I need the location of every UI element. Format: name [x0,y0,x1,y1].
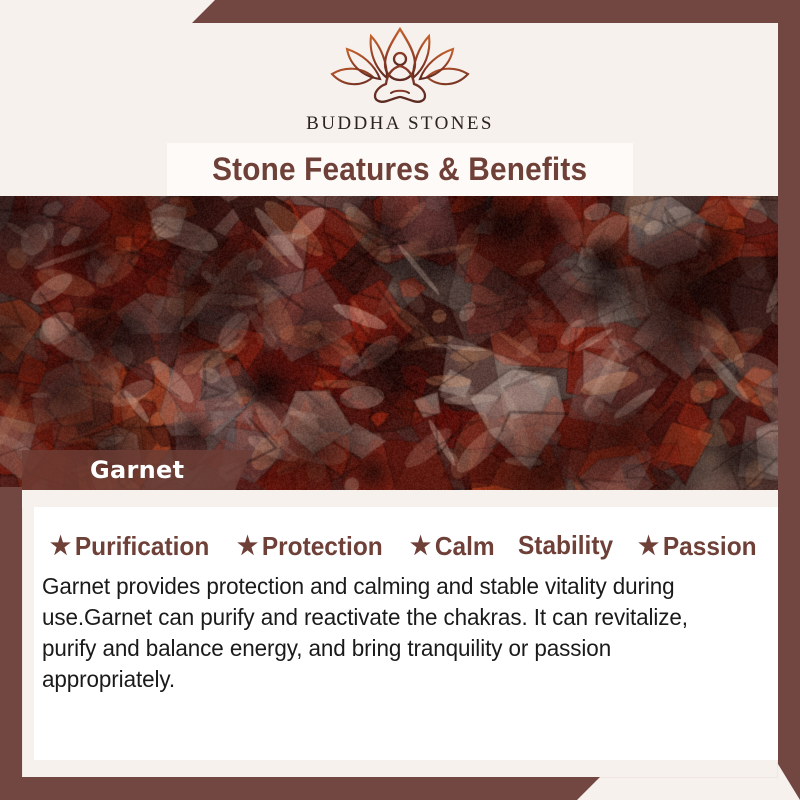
benefit-item-calm: ★Calm [410,531,495,562]
benefit-item-passion: ★Passion [638,531,757,562]
page-title: Stone Features & Benefits [212,151,587,188]
stone-name-label: Garnet [90,456,184,484]
star-icon: ★ [50,534,71,559]
benefit-item-stability: Stability [518,530,613,561]
frame-bar-right [778,0,800,800]
stone-benefits-poster: BUDDHA STONES Stone Features & Benefits … [0,0,800,800]
benefit-label: Calm [435,531,495,562]
brand-logo-block: BUDDHA STONES [0,26,800,135]
benefit-item-protection: ★Protection [237,531,383,562]
star-icon: ★ [237,534,258,559]
stone-name-tag: Garnet [22,450,252,490]
description-text: Garnet provides protection and calming a… [42,571,733,695]
benefit-item-purification: ★Purification [50,531,209,562]
benefit-label: Purification [75,531,209,562]
panel-gap-strip [22,490,778,508]
brand-name: BUDDHA STONES [0,113,800,135]
benefit-label: Passion [662,531,756,562]
benefit-label: Stability [518,530,613,561]
star-icon: ★ [638,534,659,559]
lotus-meditation-logo-icon [325,26,475,104]
benefit-label: Protection [262,531,383,562]
benefits-list: ★Purification★Protection★CalmStability★P… [50,530,766,562]
star-icon: ★ [410,534,431,559]
frame-bar-bottom [0,777,800,800]
hero-image [0,196,800,490]
title-banner: Stone Features & Benefits [167,143,633,196]
garnet-crystal-photo [0,196,800,490]
content-panel: ★Purification★Protection★CalmStability★P… [34,507,778,760]
